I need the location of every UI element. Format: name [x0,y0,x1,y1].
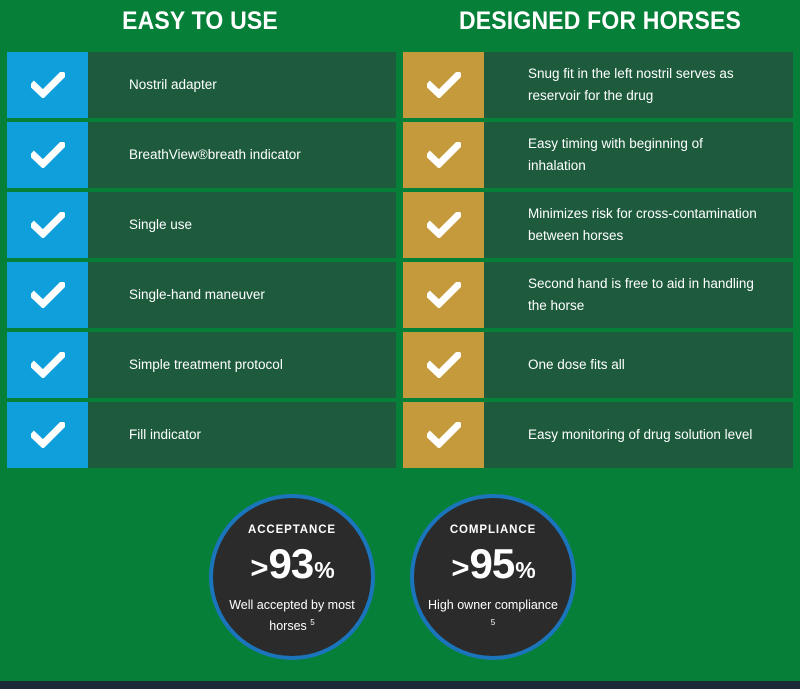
stat-badge-acceptance: ACCEPTANCE > 93 % Well accepted by most … [209,494,375,660]
column-gap [396,332,403,398]
check-icon-cell-right [403,122,484,188]
badge-description: High owner compliance 5 [428,597,558,635]
heading-designed-for-horses: DESIGNED FOR HORSES [416,7,784,36]
badge-description-text: Well accepted by most horses [229,598,355,633]
feature-item-right: Easy monitoring of drug solution level [403,402,793,468]
check-icon-cell-left [7,402,88,468]
feature-text-cell-left: Fill indicator [88,402,396,468]
badge-footnote-marker: 5 [310,618,314,627]
check-icon-cell-right [403,52,484,118]
check-icon-cell-right [403,402,484,468]
column-gap [396,262,403,328]
column-gap [396,402,403,468]
table-row: Single-hand maneuver Second hand is free… [7,262,793,328]
badge-value-prefix: > [250,545,267,591]
badge-footnote-marker: 5 [491,618,495,627]
feature-item-left: Single-hand maneuver [7,262,396,328]
table-row: Simple treatment protocol One dose fits … [7,332,793,398]
feature-text-cell-right: Easy timing with beginning of inhalation [484,122,793,188]
check-icon-cell-left [7,332,88,398]
feature-label: Nostril adapter [129,74,217,96]
check-icon [427,422,461,448]
feature-text-cell-left: BreathView®breath indicator [88,122,396,188]
badge-description-text: High owner compliance [428,598,558,612]
check-icon [427,282,461,308]
feature-text-cell-right: One dose fits all [484,332,793,398]
badge-value-unit: % [515,547,534,593]
badge-value-prefix: > [451,545,468,591]
feature-text-cell-right: Easy monitoring of drug solution level [484,402,793,468]
feature-label: Single use [129,214,192,236]
check-icon [427,72,461,98]
feature-item-right: Snug fit in the left nostril serves as r… [403,52,793,118]
stat-badge-compliance: COMPLIANCE > 95 % High owner compliance … [410,494,576,660]
check-icon [31,422,65,448]
feature-label: Single-hand maneuver [129,284,265,306]
table-row: Fill indicator Easy monitoring of drug s… [7,402,793,468]
check-icon-cell-right [403,332,484,398]
check-icon [427,212,461,238]
badge-value-number: 93 [268,541,313,587]
feature-text-cell-right: Second hand is free to aid in handling t… [484,262,793,328]
feature-label: Snug fit in the left nostril serves as r… [528,63,763,107]
feature-item-right: Second hand is free to aid in handling t… [403,262,793,328]
badge-value-number: 95 [469,541,514,587]
feature-label: Simple treatment protocol [129,354,283,376]
feature-item-left: Simple treatment protocol [7,332,396,398]
feature-label: BreathView®breath indicator [129,144,301,166]
feature-item-left: Single use [7,192,396,258]
bottom-strip [0,681,800,689]
check-icon [31,282,65,308]
badge-label: ACCEPTANCE [248,524,336,536]
check-icon [31,142,65,168]
feature-text-cell-left: Nostril adapter [88,52,396,118]
stat-badges: ACCEPTANCE > 93 % Well accepted by most … [0,492,800,667]
feature-item-left: BreathView®breath indicator [7,122,396,188]
feature-item-left: Fill indicator [7,402,396,468]
feature-label: Easy monitoring of drug solution level [528,424,752,446]
feature-table: Nostril adapter Snug fit in the left nos… [7,52,793,473]
badge-value-unit: % [314,547,333,593]
feature-item-right: Easy timing with beginning of inhalation [403,122,793,188]
badge-value: > 93 % [250,541,333,593]
feature-label: Fill indicator [129,424,201,446]
table-row: BreathView®breath indicator Easy timing … [7,122,793,188]
check-icon-cell-left [7,262,88,328]
check-icon-cell-right [403,192,484,258]
check-icon-cell-left [7,52,88,118]
feature-text-cell-left: Single use [88,192,396,258]
check-icon [31,212,65,238]
column-headings: EASY TO USE DESIGNED FOR HORSES [0,0,800,52]
check-icon [31,352,65,378]
badge-description: Well accepted by most horses 5 [227,597,357,635]
check-icon [427,142,461,168]
column-gap [396,192,403,258]
check-icon [427,352,461,378]
feature-text-cell-left: Single-hand maneuver [88,262,396,328]
check-icon-cell-left [7,122,88,188]
column-gap [396,122,403,188]
badge-label: COMPLIANCE [450,524,536,536]
feature-label: Easy timing with beginning of inhalation [528,133,763,177]
feature-text-cell-right: Minimizes risk for cross-contamination b… [484,192,793,258]
column-gap [396,52,403,118]
feature-item-left: Nostril adapter [7,52,396,118]
heading-easy-to-use: EASY TO USE [16,7,384,36]
feature-label: Second hand is free to aid in handling t… [528,273,763,317]
feature-item-right: One dose fits all [403,332,793,398]
feature-label: Minimizes risk for cross-contamination b… [528,203,763,247]
table-row: Nostril adapter Snug fit in the left nos… [7,52,793,118]
feature-text-cell-left: Simple treatment protocol [88,332,396,398]
check-icon-cell-right [403,262,484,328]
check-icon [31,72,65,98]
check-icon-cell-left [7,192,88,258]
badge-value: > 95 % [451,541,534,593]
feature-label: One dose fits all [528,354,625,376]
table-row: Single use Minimizes risk for cross-cont… [7,192,793,258]
feature-item-right: Minimizes risk for cross-contamination b… [403,192,793,258]
feature-text-cell-right: Snug fit in the left nostril serves as r… [484,52,793,118]
